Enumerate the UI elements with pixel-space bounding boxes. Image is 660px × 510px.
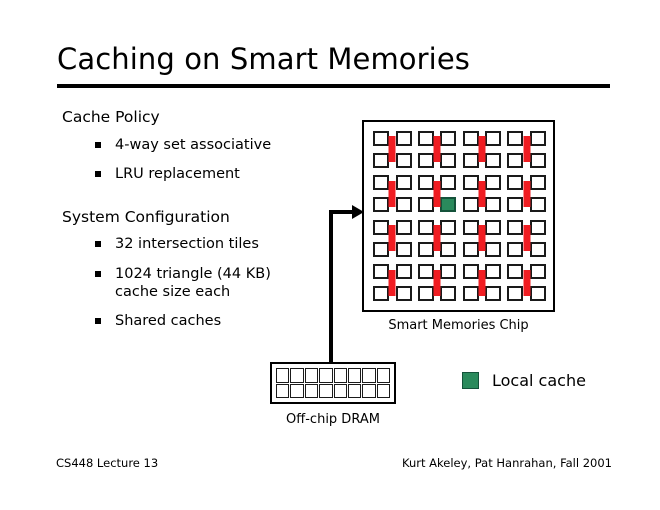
chip-tile-local-cache — [440, 197, 456, 212]
chip-interconnect-bar — [434, 136, 441, 162]
dram-cell — [319, 384, 332, 399]
chip-interconnect-bar — [389, 136, 396, 162]
chip-interconnect-bar — [523, 225, 530, 251]
dram-to-chip-arrow-shaft-vertical — [329, 210, 333, 362]
chip-tile — [373, 197, 389, 212]
chip-tile — [396, 264, 412, 279]
dram-cell — [334, 368, 347, 383]
dram-cell — [362, 384, 375, 399]
chip-tile — [485, 242, 501, 257]
square-bullet-icon — [95, 142, 101, 148]
chip-tile — [530, 153, 546, 168]
chip-tile — [507, 220, 523, 235]
chip-tile — [530, 131, 546, 146]
dram-caption-label: Off-chip DRAM — [258, 412, 408, 427]
chip-tile — [507, 242, 523, 257]
dram-cell — [319, 368, 332, 383]
chip-tile — [463, 131, 479, 146]
chip-tile — [507, 131, 523, 146]
chip-interconnect-bar — [434, 181, 441, 207]
square-bullet-icon — [95, 271, 101, 277]
chip-quadrant — [370, 127, 415, 172]
chip-quadrant — [504, 216, 549, 261]
chip-quadrant — [370, 172, 415, 217]
chip-quadrant — [460, 127, 505, 172]
chip-tile — [418, 131, 434, 146]
chip-tile — [507, 153, 523, 168]
chip-tile — [507, 286, 523, 301]
list-item: 32 intersection tiles — [95, 235, 342, 253]
footer-course-label: CS448 Lecture 13 — [56, 456, 158, 470]
section-heading-cache-policy: Cache Policy — [62, 108, 342, 127]
dram-cell — [362, 368, 375, 383]
section-heading-system-configuration: System Configuration — [62, 208, 342, 227]
chip-tile-grid — [370, 127, 549, 305]
list-item: Shared caches — [95, 312, 342, 330]
chip-interconnect-bar — [389, 270, 396, 296]
dram-cell — [348, 384, 361, 399]
chip-tile — [418, 197, 434, 212]
chip-quadrant — [370, 261, 415, 306]
chip-tile — [373, 175, 389, 190]
chip-tile — [485, 175, 501, 190]
chip-interconnect-bar — [478, 270, 485, 296]
title-underline-rule — [57, 84, 610, 88]
chip-tile — [463, 197, 479, 212]
bullet-text: 4-way set associative — [115, 137, 271, 153]
list-item: 1024 triangle (44 KB) cache size each — [95, 265, 342, 301]
chip-tile — [373, 220, 389, 235]
dram-cell — [348, 368, 361, 383]
chip-tile — [418, 286, 434, 301]
dram-cell — [276, 368, 289, 383]
bullet-list-system-configuration: 32 intersection tiles 1024 triangle (44 … — [62, 235, 342, 330]
chip-tile — [530, 197, 546, 212]
chip-interconnect-bar — [478, 225, 485, 251]
slide-canvas: Caching on Smart Memories Cache Policy 4… — [0, 0, 660, 510]
dram-cell — [290, 368, 303, 383]
chip-tile — [530, 286, 546, 301]
square-bullet-icon — [95, 241, 101, 247]
chip-tile — [485, 264, 501, 279]
chip-tile — [440, 175, 456, 190]
chip-quadrant — [370, 216, 415, 261]
chip-tile — [396, 242, 412, 257]
footer-authors-label: Kurt Akeley, Pat Hanrahan, Fall 2001 — [402, 456, 612, 470]
dram-cell — [377, 384, 390, 399]
square-bullet-icon — [95, 171, 101, 177]
legend-label-text: Local cache — [492, 371, 586, 390]
chip-quadrant — [415, 261, 460, 306]
dram-cell-grid — [276, 368, 390, 398]
chip-tile — [396, 286, 412, 301]
chip-tile — [485, 131, 501, 146]
chip-interconnect-bar — [478, 181, 485, 207]
bullet-text: LRU replacement — [115, 166, 240, 182]
page-title: Caching on Smart Memories — [57, 42, 470, 76]
chip-quadrant — [504, 172, 549, 217]
bullet-content-column: Cache Policy 4-way set associative LRU r… — [62, 108, 342, 341]
chip-interconnect-bar — [478, 136, 485, 162]
legend-green-swatch-icon — [462, 372, 479, 389]
chip-quadrant — [415, 216, 460, 261]
chip-tile — [396, 197, 412, 212]
chip-tile — [418, 242, 434, 257]
chip-tile — [373, 264, 389, 279]
chip-tile — [418, 175, 434, 190]
chip-tile — [507, 197, 523, 212]
dram-to-chip-arrow-head-icon — [352, 205, 364, 219]
chip-quadrant — [460, 261, 505, 306]
chip-tile — [507, 264, 523, 279]
list-item: 4-way set associative — [95, 136, 342, 154]
square-bullet-icon — [95, 318, 101, 324]
bullet-list-cache-policy: 4-way set associative LRU replacement — [62, 136, 342, 183]
chip-tile — [463, 153, 479, 168]
chip-tile — [530, 264, 546, 279]
chip-quadrant — [415, 127, 460, 172]
chip-interconnect-bar — [434, 270, 441, 296]
dram-cell — [334, 384, 347, 399]
smart-memories-chip-diagram — [362, 120, 555, 312]
chip-tile — [485, 153, 501, 168]
dram-cell — [377, 368, 390, 383]
chip-tile — [463, 175, 479, 190]
chip-tile — [530, 175, 546, 190]
list-item: LRU replacement — [95, 165, 342, 183]
chip-tile — [485, 220, 501, 235]
chip-interconnect-bar — [434, 225, 441, 251]
dram-cell — [305, 368, 318, 383]
chip-quadrant — [415, 172, 460, 217]
dram-cell — [305, 384, 318, 399]
chip-interconnect-bar — [389, 181, 396, 207]
chip-tile — [440, 131, 456, 146]
chip-tile — [373, 286, 389, 301]
bullet-text: 1024 triangle (44 KB) — [115, 266, 271, 282]
chip-tile — [373, 153, 389, 168]
chip-quadrant — [460, 216, 505, 261]
chip-tile — [396, 175, 412, 190]
chip-tile — [485, 197, 501, 212]
chip-tile — [373, 131, 389, 146]
chip-interconnect-bar — [523, 136, 530, 162]
chip-quadrant — [504, 261, 549, 306]
chip-tile — [463, 242, 479, 257]
dram-cell — [276, 384, 289, 399]
chip-tile — [485, 286, 501, 301]
dram-cell — [290, 384, 303, 399]
off-chip-dram-diagram — [270, 362, 396, 404]
chip-tile — [507, 175, 523, 190]
chip-tile — [530, 220, 546, 235]
chip-tile — [440, 286, 456, 301]
chip-tile — [463, 220, 479, 235]
chip-tile — [396, 131, 412, 146]
chip-tile — [440, 153, 456, 168]
chip-tile — [418, 153, 434, 168]
bullet-text-wrap: cache size each — [115, 283, 342, 301]
chip-tile — [418, 264, 434, 279]
bullet-text: Shared caches — [115, 313, 221, 329]
chip-quadrant — [504, 127, 549, 172]
chip-interconnect-bar — [523, 270, 530, 296]
chip-tile — [530, 242, 546, 257]
chip-tile — [440, 242, 456, 257]
chip-tile — [396, 220, 412, 235]
chip-tile — [373, 242, 389, 257]
chip-interconnect-bar — [389, 225, 396, 251]
chip-tile — [418, 220, 434, 235]
chip-quadrant — [460, 172, 505, 217]
chip-caption-label: Smart Memories Chip — [362, 318, 555, 333]
bullet-text: 32 intersection tiles — [115, 236, 259, 252]
chip-tile — [396, 153, 412, 168]
legend-local-cache: Local cache — [462, 371, 586, 390]
chip-interconnect-bar — [523, 181, 530, 207]
chip-tile — [440, 264, 456, 279]
chip-tile — [463, 286, 479, 301]
chip-tile — [440, 220, 456, 235]
chip-tile — [463, 264, 479, 279]
